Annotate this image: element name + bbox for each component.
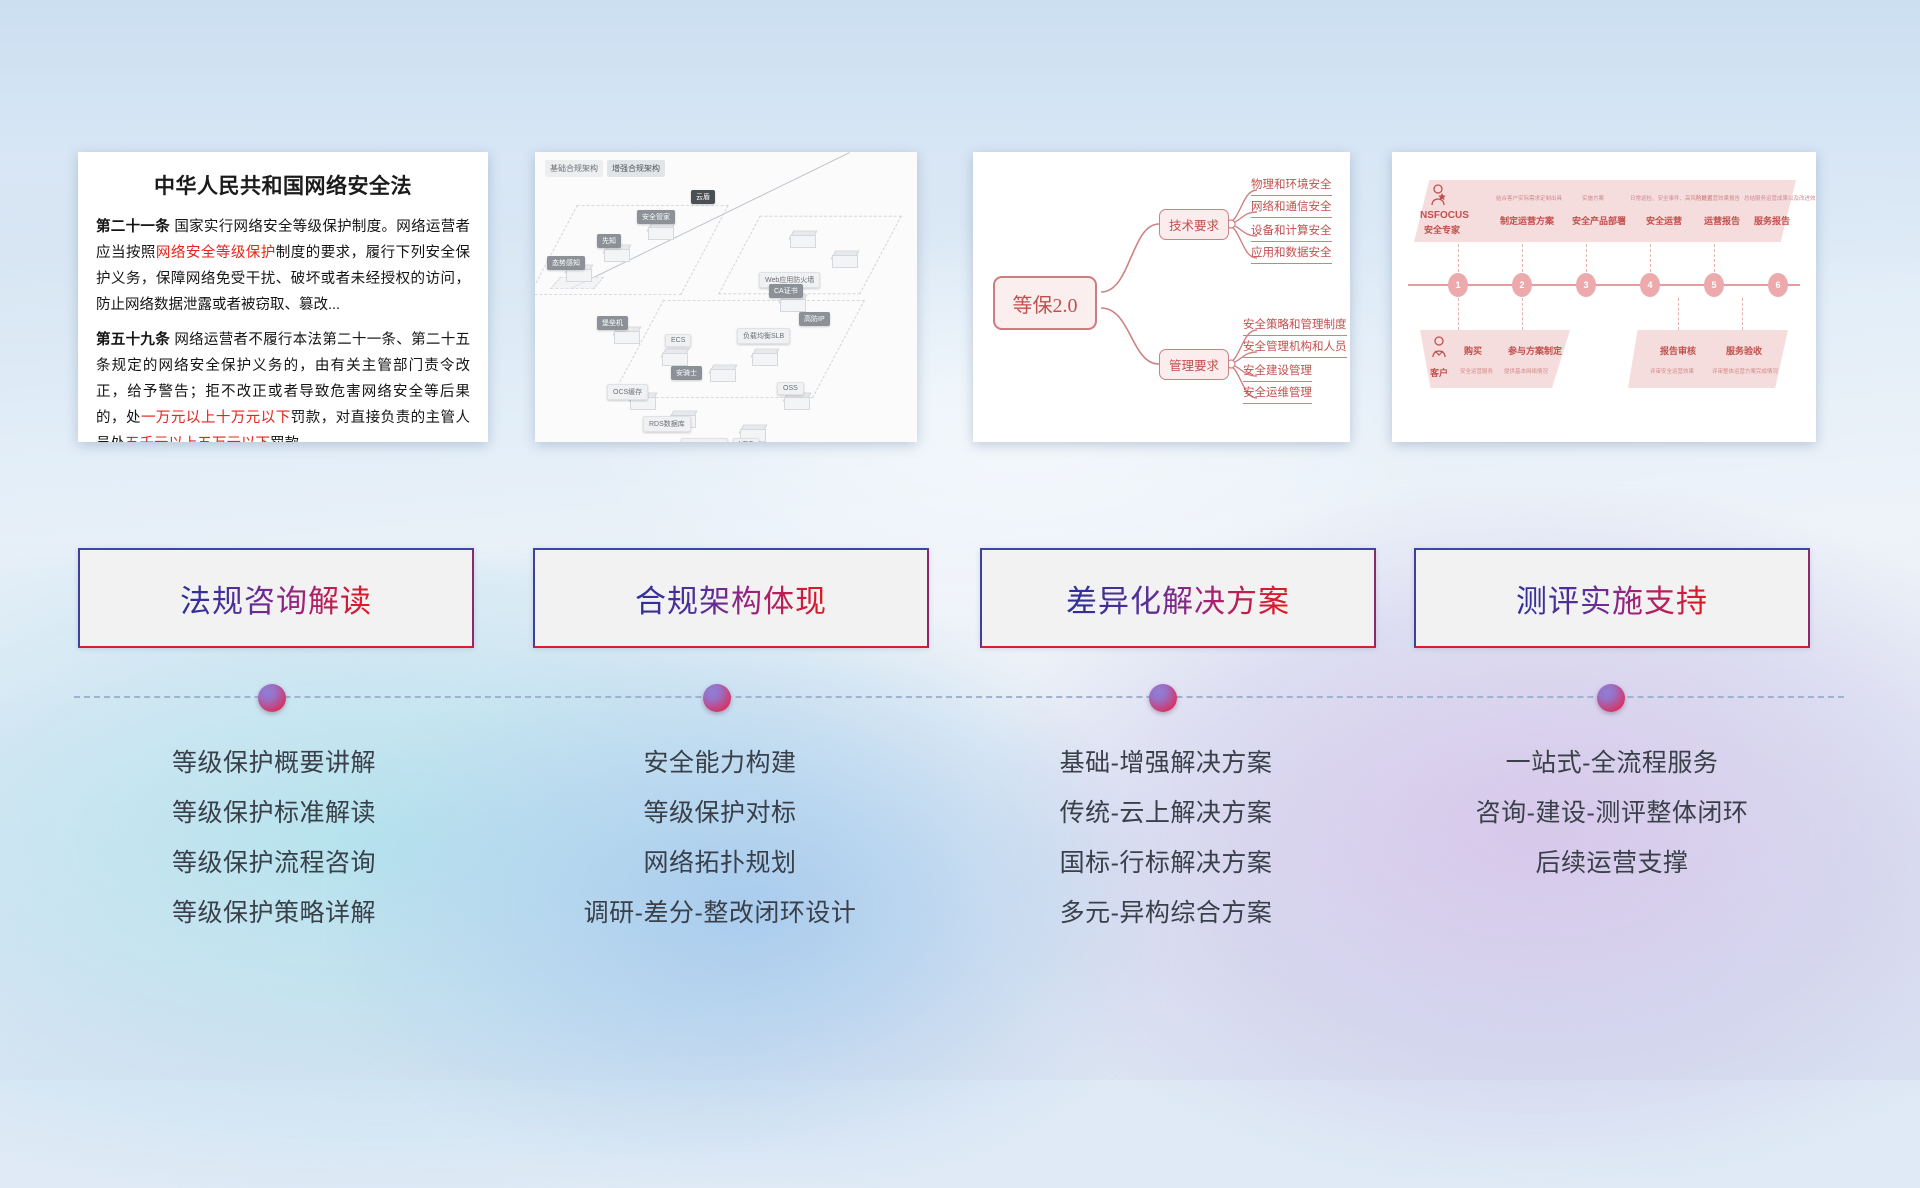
arch-cube-agent bbox=[707, 362, 737, 384]
expert-brand-label: NSFOCUS bbox=[1420, 210, 1469, 221]
law-article-number-21: 第二十一条 bbox=[96, 219, 170, 235]
header-box-compliance-architecture[interactable]: 合规架构体现 bbox=[533, 548, 929, 648]
list-item: 等级保护策略详解 bbox=[54, 888, 494, 938]
arch-node-baoleiji: 堡垒机 bbox=[597, 316, 628, 330]
arch-node-ca: CA证书 bbox=[769, 284, 803, 298]
customer-avatar-icon bbox=[1430, 336, 1448, 358]
list-item: 安全能力构建 bbox=[500, 738, 940, 788]
rail-dot-1[interactable] bbox=[258, 684, 286, 712]
arch-node-dbaudit: 数据库审计 bbox=[681, 438, 728, 442]
law-tail-59: 罚款。 bbox=[270, 436, 314, 442]
timeline-connector-2 bbox=[1522, 244, 1523, 272]
card-cloud-architecture: 基础合规架构 增强合规架构 bbox=[535, 152, 917, 442]
arch-cube-slb bbox=[749, 346, 779, 368]
rail-dot-4[interactable] bbox=[1597, 684, 1625, 712]
timeline-bottom-sub-4: 评审整体运营方案完成情况 bbox=[1712, 367, 1778, 375]
slide-stage: 中华人民共和国网络安全法 第二十一条 国家实行网络安全等级保护制度。网络运营者应… bbox=[0, 0, 1920, 1080]
arch-node-anquanguanjia: 安全管家 bbox=[637, 210, 675, 224]
timeline-title-3: 安全运营 bbox=[1646, 214, 1682, 227]
timeline-bottom-sub-2: 提供基本网络情况 bbox=[1504, 367, 1548, 375]
timeline-connector-7 bbox=[1522, 298, 1523, 330]
timeline-title-5: 服务报告 bbox=[1754, 214, 1790, 227]
timeline-bottom-band-right bbox=[1628, 330, 1788, 388]
timeline-marker-4[interactable]: 4 bbox=[1640, 273, 1660, 297]
card-service-timeline: NSFOCUS 安全专家 结合客户实际需求定制出具 制定运营方案 实施方案 安全… bbox=[1392, 152, 1816, 442]
arch-node-yundun: 云盾 bbox=[691, 190, 715, 204]
rail-dot-3[interactable] bbox=[1149, 684, 1177, 712]
timeline-connector-1 bbox=[1458, 244, 1459, 272]
detail-column-regulation: 等级保护概要讲解 等级保护标准解读 等级保护流程咨询 等级保护策略详解 bbox=[54, 738, 494, 938]
timeline-top-band bbox=[1414, 180, 1796, 242]
arch-node-anqishi: 安骑士 bbox=[671, 366, 702, 380]
timeline-marker-2[interactable]: 2 bbox=[1512, 273, 1532, 297]
list-item: 传统-云上解决方案 bbox=[946, 788, 1386, 838]
arch-node-oss: OSS bbox=[777, 382, 804, 395]
arch-node-ocs: OCS缓存 bbox=[607, 384, 648, 400]
law-highlight-59-b: 五千元以上五万元以下 bbox=[125, 436, 270, 442]
card-mindmap-dengbao: 等保2.0 技术要求 管理要求 物理和环境安全 网络和通信安全 设备和计算安全 … bbox=[973, 152, 1350, 442]
expert-avatar-icon bbox=[1428, 184, 1448, 206]
header-label-3: 测评实施支持 bbox=[1516, 576, 1708, 621]
arch-cube-mobile bbox=[787, 228, 817, 250]
law-paragraph-59: 第五十九条 网络运营者不履行本法第二十一条、第二十五条规定的网络安全保护义务的，… bbox=[96, 327, 470, 442]
law-article-number-59: 第五十九条 bbox=[96, 332, 170, 348]
mindmap-leaf-org-personnel[interactable]: 安全管理机构和人员 bbox=[1243, 338, 1347, 358]
arch-tab-basic[interactable]: 基础合规架构 bbox=[545, 160, 603, 177]
list-item: 等级保护标准解读 bbox=[54, 788, 494, 838]
law-highlight-21: 网络安全等级保护 bbox=[156, 245, 276, 261]
arch-node-vpc: VPC bbox=[733, 438, 759, 442]
mindmap-leaf-device-compute[interactable]: 设备和计算安全 bbox=[1251, 222, 1332, 242]
mindmap-root-node[interactable]: 等保2.0 bbox=[993, 276, 1097, 330]
header-box-regulation-consulting[interactable]: 法规咨询解读 bbox=[78, 548, 474, 648]
timeline-bottom-title-4: 服务验收 bbox=[1726, 344, 1762, 357]
timeline-bottom-title-3: 报告审核 bbox=[1660, 344, 1696, 357]
detail-column-assessment: 一站式-全流程服务 咨询-建设-测评整体闭环 后续运营支撑 bbox=[1392, 738, 1832, 888]
header-label-2: 差异化解决方案 bbox=[1066, 576, 1290, 621]
mindmap-leaf-physical-env[interactable]: 物理和环境安全 bbox=[1251, 176, 1332, 196]
detail-column-solution: 基础-增强解决方案 传统-云上解决方案 国标-行标解决方案 多元-异构综合方案 bbox=[946, 738, 1386, 938]
list-item: 等级保护概要讲解 bbox=[54, 738, 494, 788]
mindmap-leaf-network-comm[interactable]: 网络和通信安全 bbox=[1251, 198, 1332, 218]
detail-column-row: 等级保护概要讲解 等级保护标准解读 等级保护流程咨询 等级保护策略详解 安全能力… bbox=[0, 738, 1920, 1038]
list-item: 多元-异构综合方案 bbox=[946, 888, 1386, 938]
timeline-bottom-sub-3: 评审安全运营效果 bbox=[1650, 367, 1694, 375]
header-row: 法规咨询解读 合规架构体现 差异化解决方案 测评实施支持 bbox=[0, 548, 1920, 652]
timeline-connector-4 bbox=[1650, 244, 1651, 272]
card-cybersecurity-law: 中华人民共和国网络安全法 第二十一条 国家实行网络安全等级保护制度。网络运营者应… bbox=[78, 152, 488, 442]
list-item: 网络拓扑规划 bbox=[500, 838, 940, 888]
timeline-connector-9 bbox=[1742, 298, 1743, 330]
list-item: 后续运营支撑 bbox=[1392, 838, 1832, 888]
timeline-sub-4: 阶段运营效果报告 bbox=[1696, 194, 1740, 202]
header-label-0: 法规咨询解读 bbox=[180, 576, 372, 621]
arch-tab-group: 基础合规架构 增强合规架构 bbox=[545, 160, 665, 177]
rail-dashed-line bbox=[74, 696, 1844, 698]
timeline-bottom-title-1: 购买 bbox=[1464, 344, 1482, 357]
list-item: 调研-差分-整改闭环设计 bbox=[500, 888, 940, 938]
rail-dot-2[interactable] bbox=[703, 684, 731, 712]
timeline-marker-5[interactable]: 5 bbox=[1704, 273, 1724, 297]
customer-role-label: 客户 bbox=[1430, 366, 1448, 379]
timeline-marker-3[interactable]: 3 bbox=[1576, 273, 1596, 297]
timeline-connector-8 bbox=[1678, 298, 1679, 330]
mindmap-leaf-app-data[interactable]: 应用和数据安全 bbox=[1251, 244, 1332, 264]
timeline-sub-1: 结合客户实际需求定制出具 bbox=[1496, 194, 1562, 202]
list-item: 国标-行标解决方案 bbox=[946, 838, 1386, 888]
law-paragraph-21: 第二十一条 国家实行网络安全等级保护制度。网络运营者应当按照网络安全等级保护制度… bbox=[96, 214, 470, 318]
arch-node-gaofangip: 高防IP bbox=[799, 312, 830, 326]
expert-role-label: 安全专家 bbox=[1424, 223, 1460, 236]
arch-cube-ecs bbox=[659, 346, 689, 368]
list-item: 等级保护流程咨询 bbox=[54, 838, 494, 888]
timeline-title-1: 制定运营方案 bbox=[1500, 214, 1554, 227]
law-title: 中华人民共和国网络安全法 bbox=[96, 170, 470, 200]
arch-node-shiganzhi: 态势感知 bbox=[547, 256, 585, 270]
mindmap-leaf-policy-system[interactable]: 安全策略和管理制度 bbox=[1243, 316, 1347, 336]
timeline-title-4: 运营报告 bbox=[1704, 214, 1740, 227]
header-label-1: 合规架构体现 bbox=[635, 576, 827, 621]
law-highlight-59-a: 一万元以上十万元以下 bbox=[141, 410, 291, 426]
screenshot-card-row: 中华人民共和国网络安全法 第二十一条 国家实行网络安全等级保护制度。网络运营者应… bbox=[0, 0, 1920, 460]
arch-node-rds: RDS数据库 bbox=[643, 416, 691, 432]
timeline-sub-2: 实施方案 bbox=[1582, 194, 1604, 202]
timeline-connector-5 bbox=[1714, 244, 1715, 272]
timeline-bottom-title-2: 参与方案制定 bbox=[1508, 344, 1562, 357]
arch-node-xianzhi: 先知 bbox=[597, 234, 621, 248]
list-item: 基础-增强解决方案 bbox=[946, 738, 1386, 788]
timeline-marker-6[interactable]: 6 bbox=[1768, 273, 1788, 297]
arch-node-slb: 负载均衡SLB bbox=[737, 328, 790, 344]
arch-tab-enhanced[interactable]: 增强合规架构 bbox=[607, 160, 665, 177]
header-box-differentiated-solution[interactable]: 差异化解决方案 bbox=[980, 548, 1376, 648]
timeline-bottom-sub-1: 安全运营服务 bbox=[1460, 367, 1493, 375]
mindmap-branch-management[interactable]: 管理要求 bbox=[1159, 349, 1229, 380]
timeline-rail bbox=[0, 684, 1920, 724]
list-item: 一站式-全流程服务 bbox=[1392, 738, 1832, 788]
timeline-connector-6 bbox=[1458, 298, 1459, 330]
timeline-connector-3 bbox=[1586, 244, 1587, 272]
list-item: 等级保护对标 bbox=[500, 788, 940, 838]
mindmap-leaf-build-mgmt[interactable]: 安全建设管理 bbox=[1243, 362, 1312, 382]
timeline-sub-5: 总结服务运营成果以及改进效果 bbox=[1744, 194, 1816, 202]
header-box-assessment-support[interactable]: 测评实施支持 bbox=[1414, 548, 1810, 648]
detail-column-architecture: 安全能力构建 等级保护对标 网络拓扑规划 调研-差分-整改闭环设计 bbox=[500, 738, 940, 938]
mindmap-branch-technical[interactable]: 技术要求 bbox=[1159, 209, 1229, 240]
arch-cube-pc bbox=[829, 248, 859, 270]
arch-canvas: 云盾 安全管家 先知 态势感知 堡垒机 安骑士 OCS缓存 RDS数据库 ECS… bbox=[541, 176, 911, 436]
timeline-marker-1[interactable]: 1 bbox=[1448, 273, 1468, 297]
list-item: 咨询-建设-测评整体闭环 bbox=[1392, 788, 1832, 838]
arch-node-ecs: ECS bbox=[665, 334, 691, 347]
mindmap-leaf-ops-mgmt[interactable]: 安全运维管理 bbox=[1243, 384, 1312, 404]
timeline-title-2: 安全产品部署 bbox=[1572, 214, 1626, 227]
